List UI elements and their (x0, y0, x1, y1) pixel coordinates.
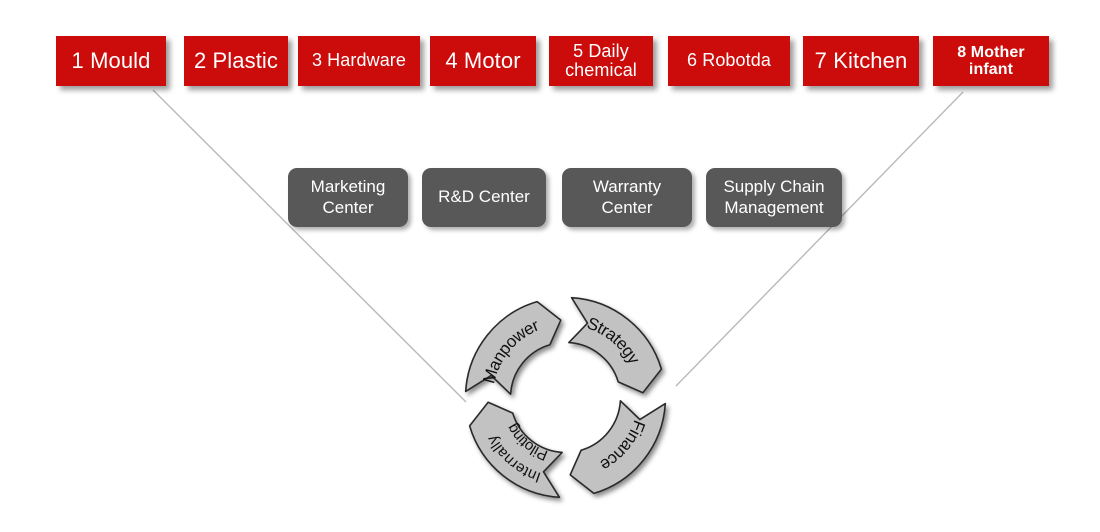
business-unit-label: 6 Robotda (687, 51, 771, 70)
business-unit-label: 7 Kitchen (815, 49, 908, 73)
shared-service-center-label: Supply Chain Management (714, 177, 834, 218)
business-unit-box[interactable]: 7 Kitchen (803, 36, 919, 86)
management-cycle-diagram: StrategyFinanceInternallyPilotingManpowe… (443, 275, 688, 520)
business-unit-label: 5 Daily chemical (555, 42, 647, 81)
business-unit-box[interactable]: 3 Hardware (298, 36, 420, 86)
business-unit-label: 2 Plastic (194, 49, 278, 73)
cycle-segment-labels: StrategyFinanceInternallyPilotingManpowe… (479, 314, 648, 486)
business-unit-box[interactable]: 6 Robotda (668, 36, 790, 86)
shared-service-center-box[interactable]: Supply Chain Management (706, 168, 842, 227)
shared-service-center-box[interactable]: Warranty Center (562, 168, 692, 227)
business-unit-box[interactable]: 8 Mother infant (933, 36, 1049, 86)
business-unit-label: 1 Mould (72, 49, 151, 73)
business-unit-box[interactable]: 4 Motor (430, 36, 536, 86)
shared-service-center-label: Warranty Center (570, 177, 684, 218)
business-unit-label: 4 Motor (445, 49, 520, 73)
business-unit-box[interactable]: 1 Mould (56, 36, 166, 86)
business-unit-label: 8 Mother infant (939, 44, 1043, 79)
shared-service-center-row: Marketing CenterR&D CenterWarranty Cente… (0, 168, 1100, 228)
shared-service-center-box[interactable]: R&D Center (422, 168, 546, 227)
shared-service-center-label: Marketing Center (296, 177, 400, 218)
shared-service-center-label: R&D Center (438, 187, 530, 207)
business-unit-row: 1 Mould2 Plastic3 Hardware4 Motor5 Daily… (0, 36, 1100, 88)
cycle-segments (466, 298, 666, 498)
business-unit-box[interactable]: 2 Plastic (184, 36, 288, 86)
left-connector-line (153, 90, 466, 402)
shared-service-center-box[interactable]: Marketing Center (288, 168, 408, 227)
business-unit-box[interactable]: 5 Daily chemical (549, 36, 653, 86)
diagram-canvas: 1 Mould2 Plastic3 Hardware4 Motor5 Daily… (0, 0, 1100, 532)
business-unit-label: 3 Hardware (312, 51, 406, 70)
right-connector-line (676, 92, 963, 386)
